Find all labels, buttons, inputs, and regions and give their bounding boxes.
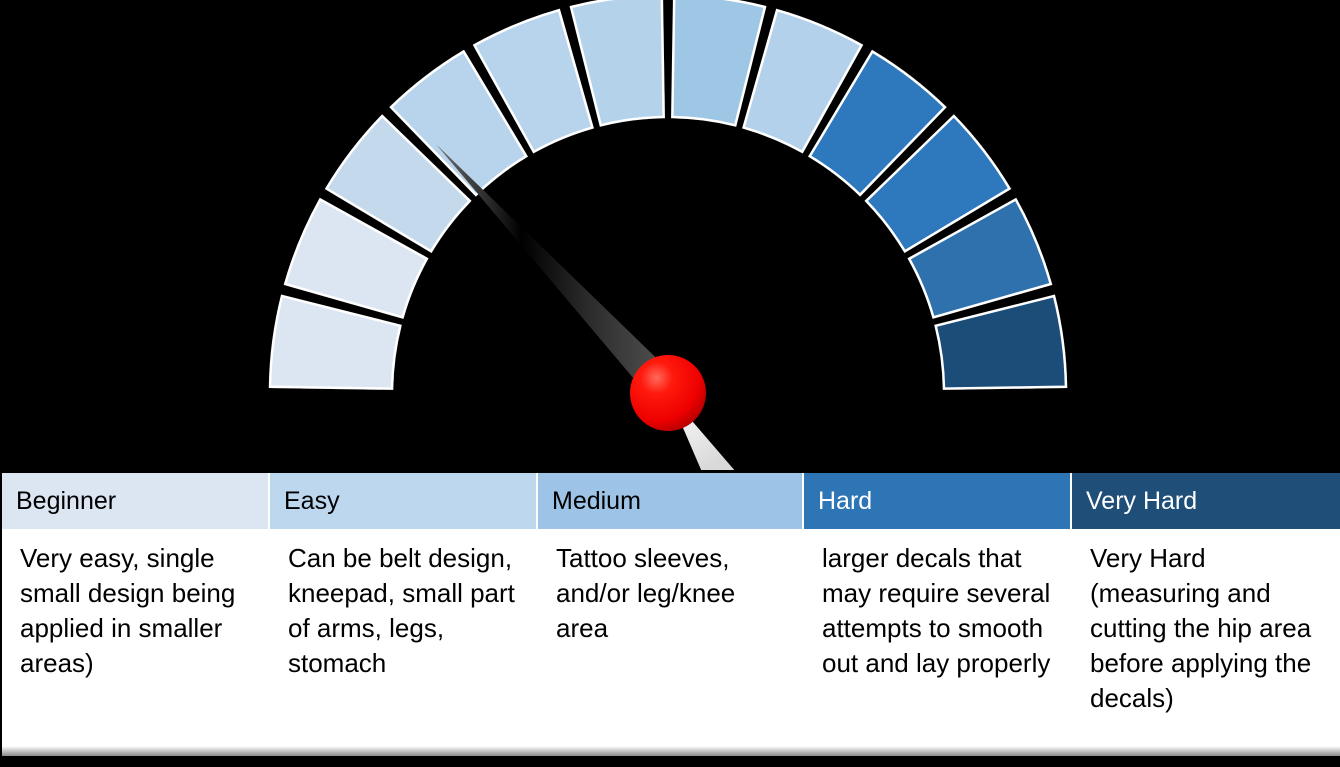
header-label-hard: Hard [818, 489, 872, 514]
gauge-segments [270, 0, 1066, 389]
table-body-row: Very easy, single small design being app… [2, 529, 1338, 756]
header-cell-beginner[interactable]: Beginner [2, 473, 270, 529]
header-cell-hard[interactable]: Hard [804, 473, 1072, 529]
body-cell-hard: larger decals that may require several a… [804, 529, 1072, 756]
difficulty-levels-table: Beginner Easy Medium Hard Very Hard Very… [0, 470, 1340, 758]
header-cell-medium[interactable]: Medium [538, 473, 804, 529]
header-label-medium: Medium [552, 489, 641, 514]
needle-hub[interactable] [630, 355, 706, 431]
header-cell-very-hard[interactable]: Very Hard [1072, 473, 1340, 529]
difficulty-gauge [0, 0, 1340, 472]
gauge-panel [0, 0, 1340, 472]
body-cell-easy: Can be belt design, kneepad, small part … [270, 529, 538, 756]
body-cell-medium: Tattoo sleeves, and/or leg/knee area [538, 529, 804, 756]
slide-canvas: Beginner Easy Medium Hard Very Hard Very… [0, 0, 1340, 767]
header-label-beginner: Beginner [16, 489, 116, 514]
body-cell-very-hard: Very Hard (measuring and cutting the hip… [1072, 529, 1340, 756]
header-label-easy: Easy [284, 489, 340, 514]
header-cell-easy[interactable]: Easy [270, 473, 538, 529]
table-header-row: Beginner Easy Medium Hard Very Hard [2, 473, 1338, 529]
body-cell-beginner: Very easy, single small design being app… [2, 529, 270, 756]
header-label-very-hard: Very Hard [1086, 489, 1197, 514]
